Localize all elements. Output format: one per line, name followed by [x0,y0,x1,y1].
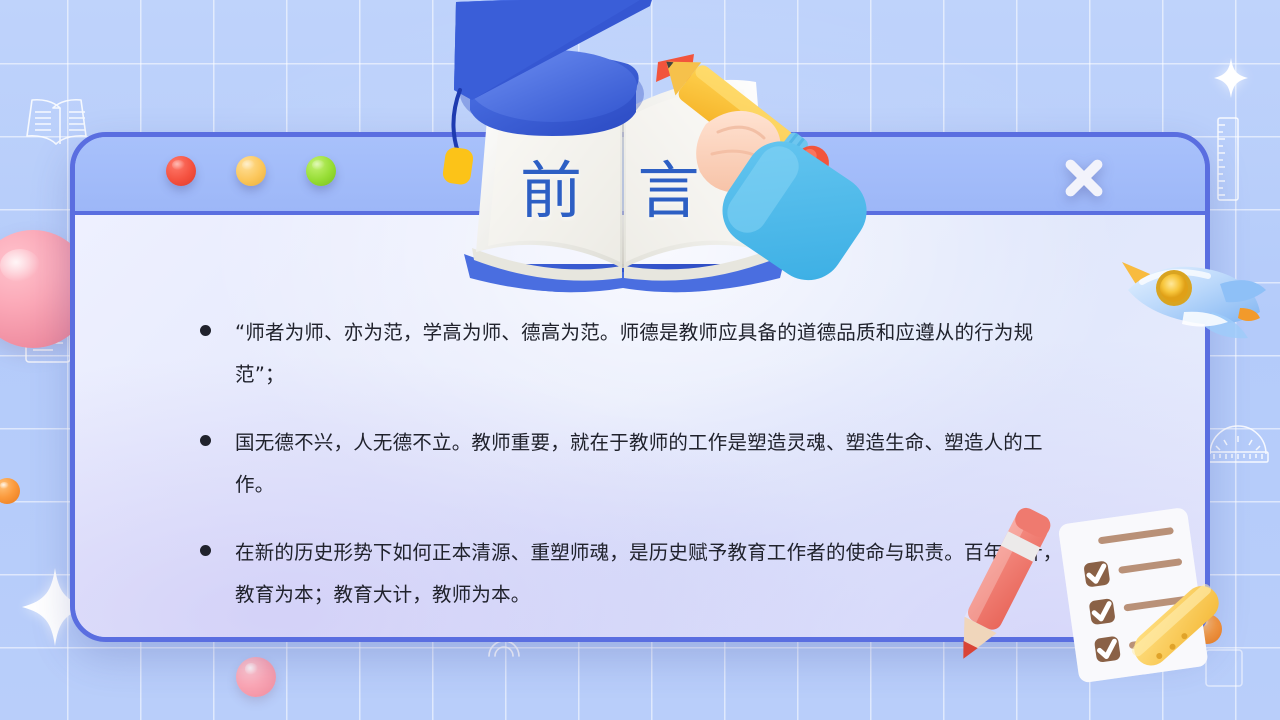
bullet-point-icon [200,545,211,556]
orange-sphere-left [0,478,20,504]
window-control-dots[interactable] [166,156,336,186]
close-dot[interactable] [166,156,196,186]
rocket-art [1108,246,1272,356]
checklist-art [930,505,1230,685]
sparkle-top-right [1214,58,1248,98]
close-icon[interactable] [1056,150,1112,206]
bullet-text: 国无德不兴，人无德不立。教师重要，就在于教师的工作是塑造灵魂、塑造生命、塑造人的… [235,422,1080,506]
ruler-doodle [1216,116,1240,202]
page-title: 前 言 [520,140,720,230]
bullet-text: “师者为师、亦为范，学高为师、德高为范。师德是教师应具备的道德品质和应遵从的行为… [235,312,1080,396]
list-item: 国无德不兴，人无德不立。教师重要，就在于教师的工作是塑造灵魂、塑造生命、塑造人的… [200,422,1080,506]
list-item: “师者为师、亦为范，学高为师、德高为范。师德是教师应具备的道德品质和应遵从的行为… [200,312,1080,396]
slide-canvas: 前 言 “师者为师、亦为范，学高为师、德 [0,0,1280,720]
pink-sphere-small [236,657,276,697]
bullet-point-icon [200,435,211,446]
minimize-dot[interactable] [236,156,266,186]
protractor-doodle [1206,424,1270,464]
maximize-dot[interactable] [306,156,336,186]
bullet-point-icon [200,325,211,336]
